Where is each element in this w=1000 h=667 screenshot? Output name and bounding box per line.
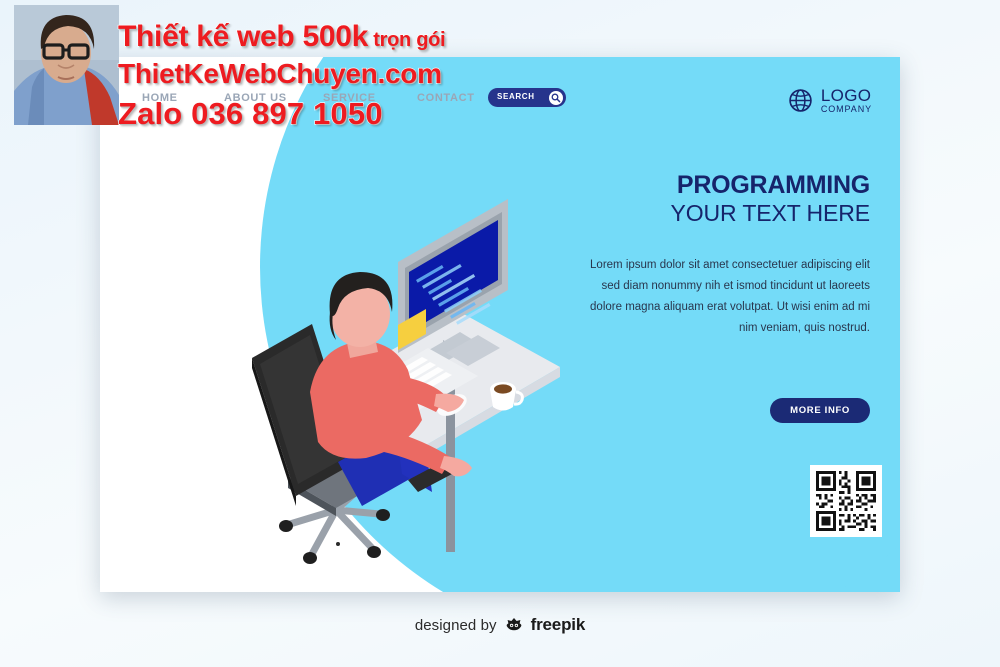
- freepik-mark-icon: [504, 617, 524, 634]
- logo-name: LOGO: [821, 87, 872, 104]
- nav-item-service[interactable]: SERVICE: [323, 92, 376, 104]
- footer-text: designed by: [415, 617, 497, 634]
- hero-body-text: Lorem ipsum dolor sit amet consectetuer …: [570, 255, 870, 340]
- hero-headline: PROGRAMMING: [570, 172, 870, 198]
- hero-subheadline: YOUR TEXT HERE: [570, 200, 870, 226]
- nav-item-about-us[interactable]: ABOUT US: [224, 92, 287, 104]
- logo-subtitle: COMPANY: [821, 105, 872, 114]
- developer-illustration: [160, 162, 590, 592]
- search-icon[interactable]: [549, 91, 563, 105]
- landing-page-card: HOME ABOUT US SERVICE CONTACT SEARCH LOG…: [100, 57, 900, 592]
- footer-brand-name: freepik: [531, 615, 586, 635]
- watermark-line-1: Thiết kế web 500k trọn gói: [118, 20, 445, 54]
- footer-credit: designed by freepik: [0, 615, 1000, 635]
- qr-code[interactable]: [810, 465, 882, 537]
- more-info-button[interactable]: MORE INFO: [770, 398, 870, 423]
- search-button[interactable]: SEARCH: [488, 88, 566, 107]
- globe-icon: [788, 88, 813, 113]
- nav-item-home[interactable]: HOME: [142, 92, 178, 104]
- hero-copy-block: PROGRAMMING YOUR TEXT HERE Lorem ipsum d…: [570, 172, 870, 340]
- search-button-label: SEARCH: [497, 92, 535, 101]
- logo[interactable]: LOGO COMPANY: [788, 87, 872, 114]
- main-nav: HOME ABOUT US SERVICE CONTACT SEARCH: [120, 88, 880, 118]
- nav-item-contact[interactable]: CONTACT: [417, 92, 475, 104]
